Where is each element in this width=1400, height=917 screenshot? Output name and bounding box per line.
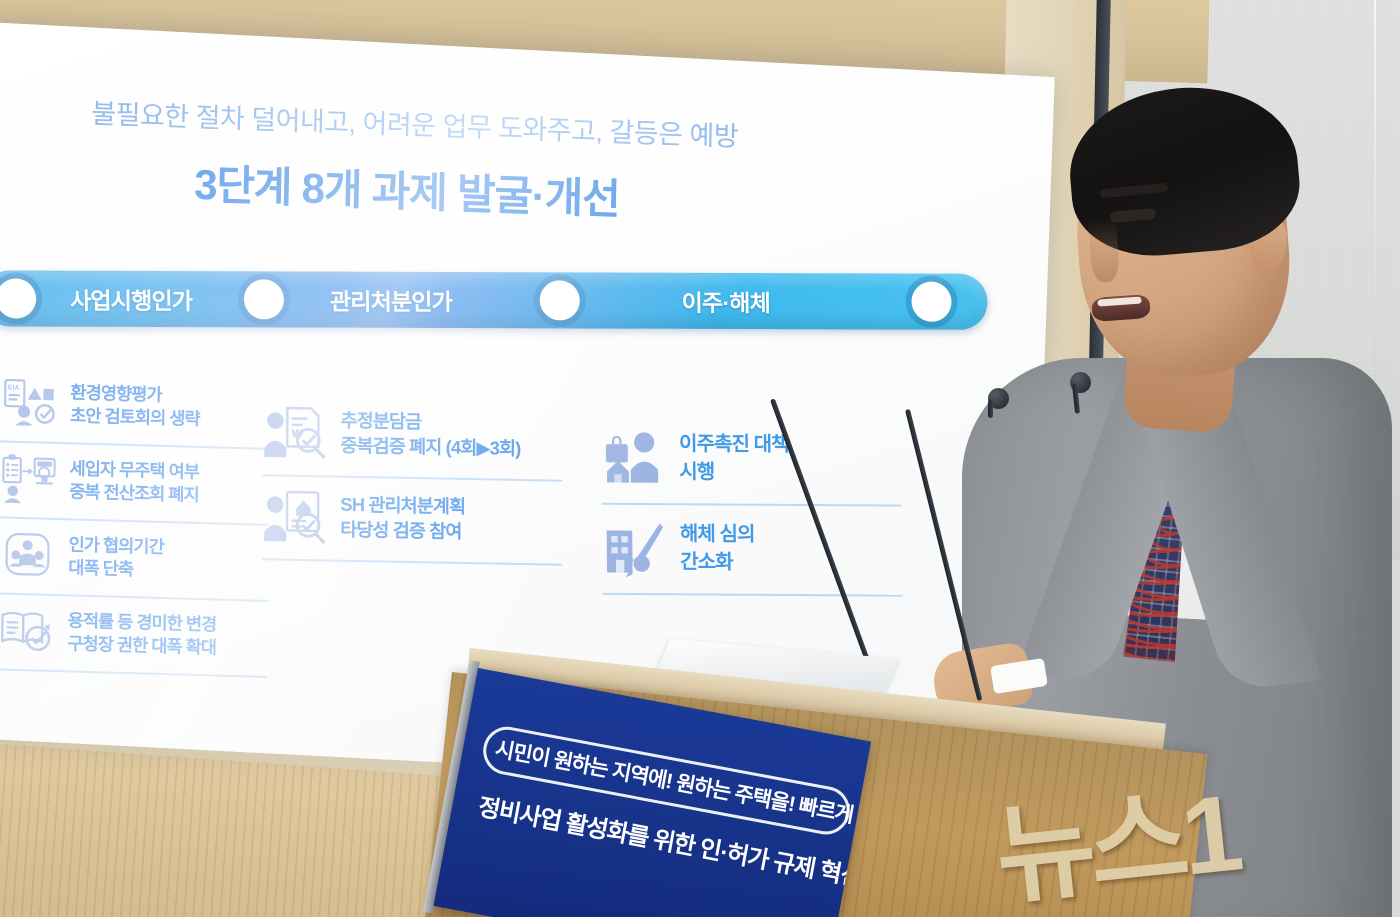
task-line: 시행 — [679, 458, 789, 487]
task-line: 환경영향평가 — [70, 381, 200, 408]
task-line: 중복 전산조회 폐지 — [69, 480, 199, 507]
stage-label-0: 사업시행인가 — [70, 282, 193, 316]
task-line: 해체 심의 — [680, 520, 755, 549]
task-text: 환경영향평가 초안 검토회의 생략 — [70, 381, 200, 432]
task-line: 간소화 — [680, 548, 755, 577]
task-line: SH 관리처분계획 — [340, 493, 465, 520]
task-item: 해체 심의 간소화 — [602, 505, 903, 597]
person-invoice-check-icon: ₩ — [262, 401, 328, 464]
task-line: 초안 검토회의 생략 — [70, 404, 200, 431]
task-line: 추정분담금 — [340, 409, 520, 437]
person-housing-plan-icon — [262, 485, 328, 548]
task-text: 인가 협의기간 대폭 단축 — [68, 533, 164, 583]
task-item: SH 관리처분계획 타당성 검증 참여 — [262, 476, 562, 566]
task-item: ₩ 추정분담금 중복검증 폐지 (4회▶3회) — [262, 392, 562, 482]
task-line: 타당성 검증 참여 — [340, 518, 465, 545]
person-suitcase-house-icon — [601, 427, 668, 489]
task-text: 용적률 등 경미한 변경 구청장 권한 대폭 확대 — [67, 609, 216, 660]
task-line: 구청장 권한 대폭 확대 — [67, 632, 216, 660]
stage-progress-bar: 사업시행인가 관리처분인가 이주·해체 — [0, 270, 988, 330]
stage-label-2: 이주·해체 — [681, 284, 770, 318]
press-briefing-scene: 불필요한 절차 덜어내고, 어려운 업무 도와주고, 갈등은 예방 3단계 8개… — [0, 0, 1400, 917]
task-column-2: 이주촉진 대책 시행 — [601, 415, 903, 597]
task-item: 인가 협의기간 대폭 단축 — [0, 518, 269, 602]
task-text: 해체 심의 간소화 — [680, 520, 755, 577]
slide-subtitle: 불필요한 절차 덜어내고, 어려운 업무 도와주고, 갈등은 예방 — [91, 92, 851, 158]
task-item: 용적률 등 경미한 변경 구청장 권한 대폭 확대 — [0, 594, 268, 678]
stage-dot-2 — [540, 280, 580, 320]
clipboard-to-monitor-icon — [0, 451, 58, 507]
task-item: 이주촉진 대책 시행 — [601, 415, 902, 507]
news-agency-watermark: 뉴스1 — [988, 746, 1244, 917]
task-column-1: ₩ 추정분담금 중복검증 폐지 (4회▶3회) — [262, 392, 562, 566]
stage-dot-end — [911, 282, 951, 322]
task-text: SH 관리처분계획 타당성 검증 참여 — [340, 493, 465, 545]
eia-document-icon: EIA — [0, 375, 59, 431]
building-demolition-icon — [602, 517, 669, 579]
task-line: 중복검증 폐지 (4회▶3회) — [340, 434, 520, 462]
slide-headline: 3단계 8개 과제 발굴·개선 — [194, 151, 955, 239]
task-line: 인가 협의기간 — [69, 533, 164, 559]
book-check-icon — [0, 603, 56, 659]
task-item: EIA 환경영향평가 초안 검토회의 생략 — [0, 366, 271, 450]
people-meeting-icon — [0, 527, 57, 583]
mouth — [1091, 294, 1151, 322]
svg-text:EIA: EIA — [8, 385, 20, 392]
task-text: 세입자 무주택 여부 중복 전산조회 폐지 — [69, 457, 199, 508]
stage-dot-start — [0, 278, 36, 318]
task-line: 이주촉진 대책 — [679, 430, 789, 459]
task-line: 대폭 단축 — [68, 556, 163, 582]
task-text: 이주촉진 대책 시행 — [679, 430, 789, 487]
task-column-0: EIA 환경영향평가 초안 검토회의 생략 — [0, 366, 271, 678]
stage-dot-1 — [244, 279, 284, 319]
task-text: 추정분담금 중복검증 폐지 (4회▶3회) — [340, 409, 520, 462]
stage-label-1: 관리처분인가 — [330, 283, 453, 317]
task-item: 세입자 무주택 여부 중복 전산조회 폐지 — [0, 442, 270, 526]
